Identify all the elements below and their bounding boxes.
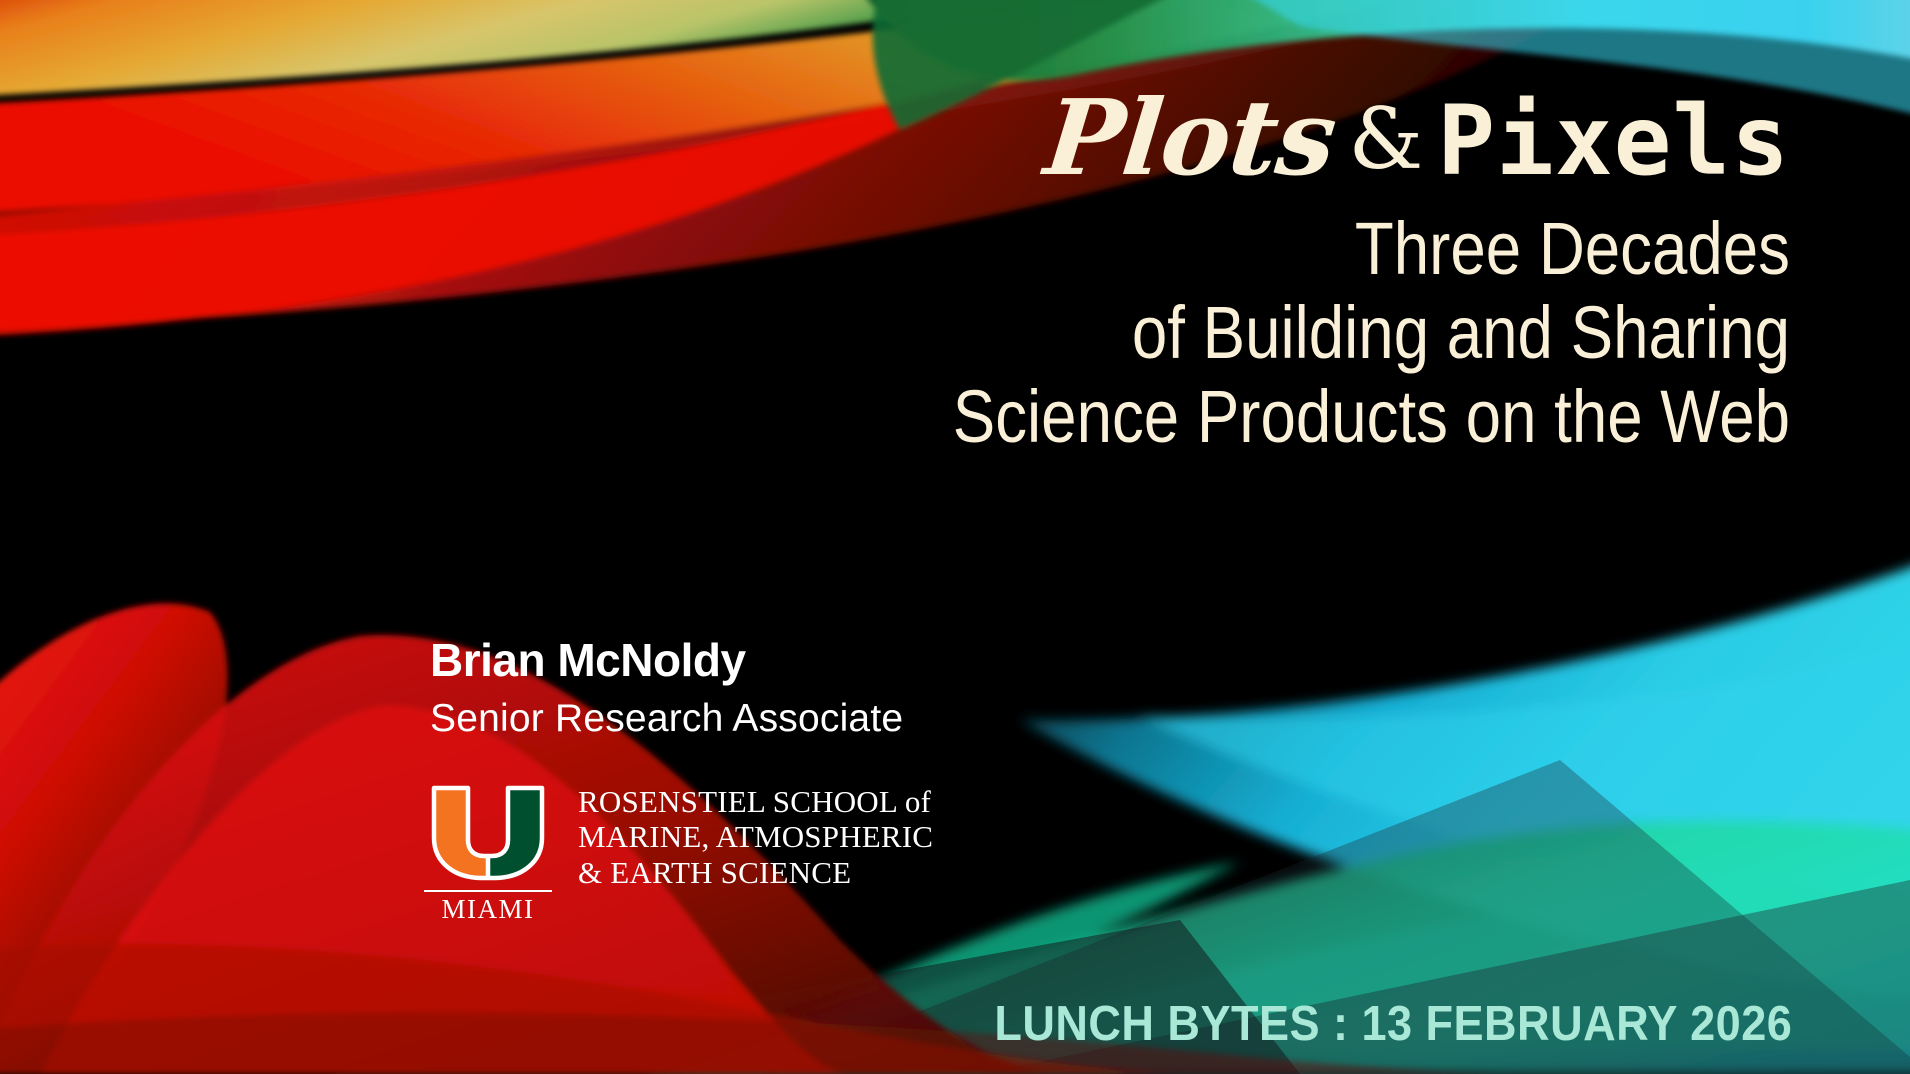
subtitle-line-1: Three Decades	[251, 212, 1790, 296]
affiliation-logo-block: MIAMI ROSENSTIEL SCHOOL of MARINE, ATMOS…	[424, 782, 933, 925]
logo-divider-rule	[424, 890, 552, 892]
presenter-role: Senior Research Associate	[430, 698, 903, 741]
slide-subtitle: Three Decades of Building and Sharing Sc…	[0, 212, 1790, 464]
subtitle-line-3: Science Products on the Web	[251, 380, 1790, 464]
logotype-word-pixels: Pixels	[1437, 93, 1790, 189]
event-footer: LUNCH BYTES : 13 FEBRUARY 2026	[994, 996, 1792, 1052]
slide-logotype: Plots&Pixels	[0, 86, 1790, 190]
subtitle-line-2: of Building and Sharing	[251, 296, 1790, 380]
school-name-line-2: MARINE, ATMOSPHERIC	[578, 819, 933, 854]
university-of-miami-u-mark: MIAMI	[424, 782, 552, 925]
school-name-line-3: & EARTH SCIENCE	[578, 855, 933, 890]
logotype-word-plots: Plots	[1040, 86, 1340, 190]
school-name-line-1: ROSENSTIEL SCHOOL of	[578, 784, 933, 819]
title-slide: Plots&Pixels Three Decades of Building a…	[0, 0, 1910, 1074]
u-logo-icon	[424, 782, 552, 886]
title-block: Plots&Pixels Three Decades of Building a…	[0, 86, 1790, 464]
university-of-miami-caption: MIAMI	[424, 894, 552, 925]
presenter-name: Brian McNoldy	[430, 635, 903, 686]
logotype-ampersand: &	[1334, 97, 1437, 181]
school-name: ROSENSTIEL SCHOOL of MARINE, ATMOSPHERIC…	[578, 782, 933, 890]
presenter-block: Brian McNoldy Senior Research Associate	[430, 635, 903, 740]
